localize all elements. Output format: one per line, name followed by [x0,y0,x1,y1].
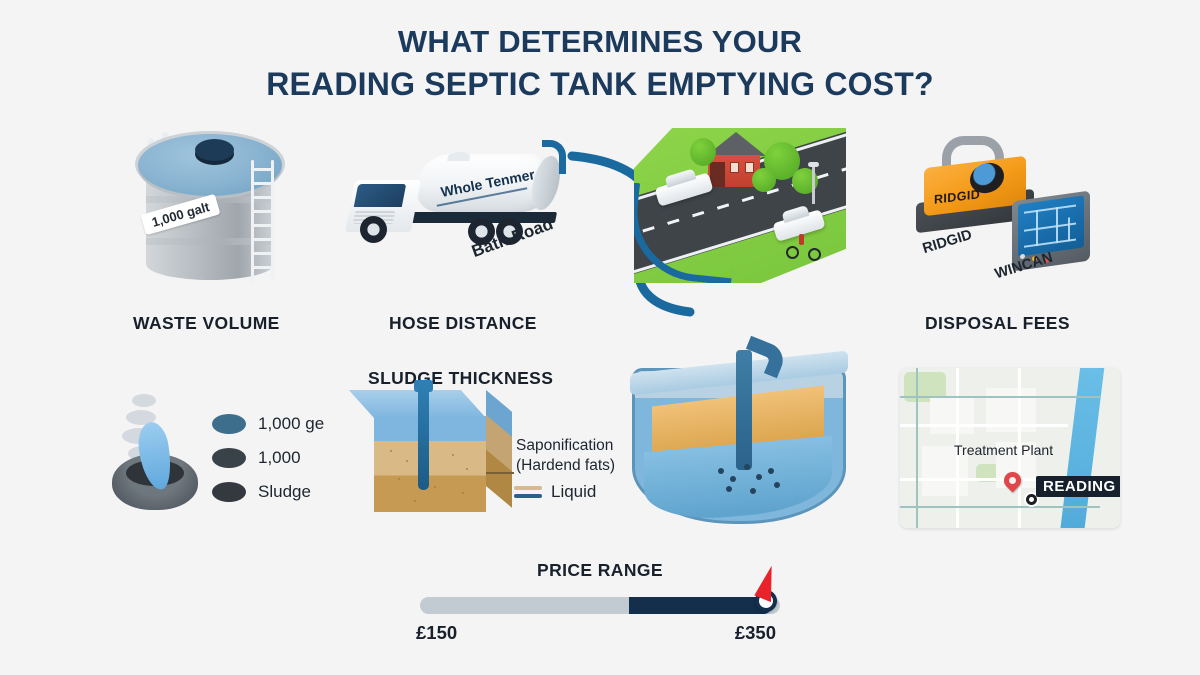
legend-label: Sludge [258,482,311,502]
legend-label: 1,000 [258,448,301,468]
house-door-icon [710,162,725,187]
legend-dot [212,414,246,434]
caption-disposal-fees: DISPOSAL FEES [925,313,1070,334]
legend-dot [212,482,246,502]
cyclist-icon [799,234,804,245]
truck-windscreen [354,184,406,207]
volume-legend: 1,000 ge 1,000 Sludge [112,392,312,520]
waste-volume-illustration: 1,000 galt [118,118,308,298]
debris-dot [768,468,774,474]
annotation-hardened-fats: (Hardend fats) [516,456,615,476]
road-scene-illustration [634,128,846,283]
caption-waste-volume: WASTE VOLUME [133,313,280,334]
sludge-probe-icon [418,384,429,490]
price-max-label: £350 [735,622,776,644]
bubble-icon [132,394,156,407]
map-road [900,424,1068,427]
house-window-icon [745,162,754,173]
sludge-legend-liquid: Liquid [514,482,596,502]
page-title: WHAT DETERMINES YOUR READING SEPTIC TANK… [0,22,1200,105]
cross-section-hose [736,350,752,470]
tank-ladder-icon [249,160,277,282]
legend-label: 1,000 ge [258,414,324,434]
legend-dot [212,448,246,468]
bicycle-wheel-icon [786,246,799,259]
wincan-screen [1018,195,1084,256]
tree-icon [690,138,716,166]
caption-hose-distance: HOSE DISTANCE [389,313,537,334]
map-road-minor [900,506,1100,508]
reading-map[interactable]: Treatment Plant READING [900,368,1120,528]
legend-swatch-fats [514,486,542,490]
title-line-2: READING SEPTIC TANK EMPTYING COST? [0,63,1200,105]
map-road-minor [916,368,918,528]
debris-dot [730,476,736,482]
debris-dot [718,468,724,474]
debris-dot [726,486,732,492]
tank-hatch-icon [195,139,234,161]
annotation-leader-line [486,472,514,474]
sludge-block-face [374,416,486,512]
debris-dot [774,482,780,488]
map-city-badge: READING [1036,476,1120,497]
infographic-canvas: WHAT DETERMINES YOUR READING SEPTIC TANK… [0,0,1200,675]
map-block [930,398,974,434]
annotation-saponification: Saponification [516,436,613,456]
price-min-label: £150 [416,622,457,644]
caption-price-range: PRICE RANGE [420,560,780,581]
house-window-icon [730,162,739,173]
map-road-minor [900,396,1100,398]
price-slider-track[interactable] [420,597,780,614]
map-place-label: Treatment Plant [954,442,1053,458]
legend-swatch-liquid [514,494,542,498]
truck-hatch-icon [447,152,471,161]
map-river [1059,368,1106,528]
lamp-post-icon [812,166,815,204]
debris-dot [756,474,762,480]
sludge-block-side [486,390,512,508]
tree-icon [752,168,776,192]
lamp-head-icon [808,162,819,167]
price-range-widget[interactable]: PRICE RANGE £150 £350 [420,560,780,650]
debris-dot [744,464,750,470]
price-slider-fill [629,597,772,614]
bicycle-wheel-icon [808,248,821,261]
legend-label-liquid: Liquid [551,482,596,502]
tank-cross-section-illustration [626,352,874,538]
sludge-thickness-illustration: Saponification (Hardend fats) Liquid [364,364,594,524]
truck-wheel [360,216,387,243]
debris-dot [750,488,756,494]
title-line-1: WHAT DETERMINES YOUR [398,24,802,59]
